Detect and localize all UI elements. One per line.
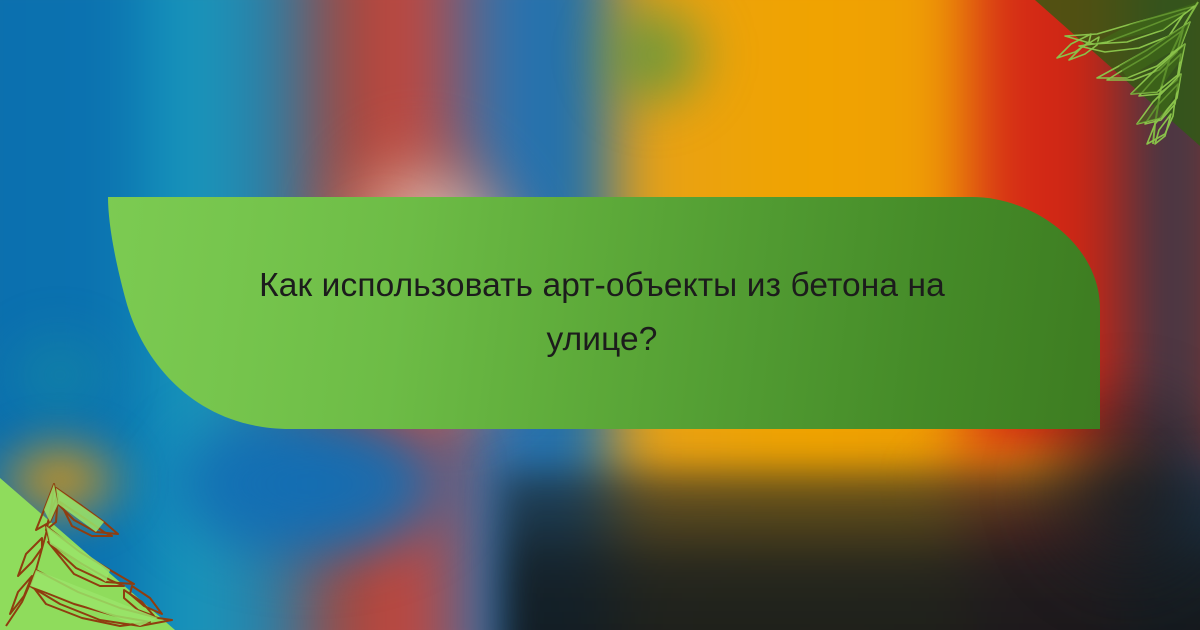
- share-card: Как использовать арт-объекты из бетона н…: [0, 0, 1200, 630]
- wheat-spray-icon: [1035, 0, 1200, 146]
- wheat-spray-icon: [0, 478, 175, 630]
- title-banner-text-wrap: Как использовать арт-объекты из бетона н…: [104, 197, 1100, 429]
- background-green-blob: [560, 0, 750, 150]
- page-title: Как использовать арт-объекты из бетона н…: [254, 259, 950, 368]
- ornament-top-right: [1035, 0, 1200, 146]
- ornament-bottom-left: [0, 478, 175, 630]
